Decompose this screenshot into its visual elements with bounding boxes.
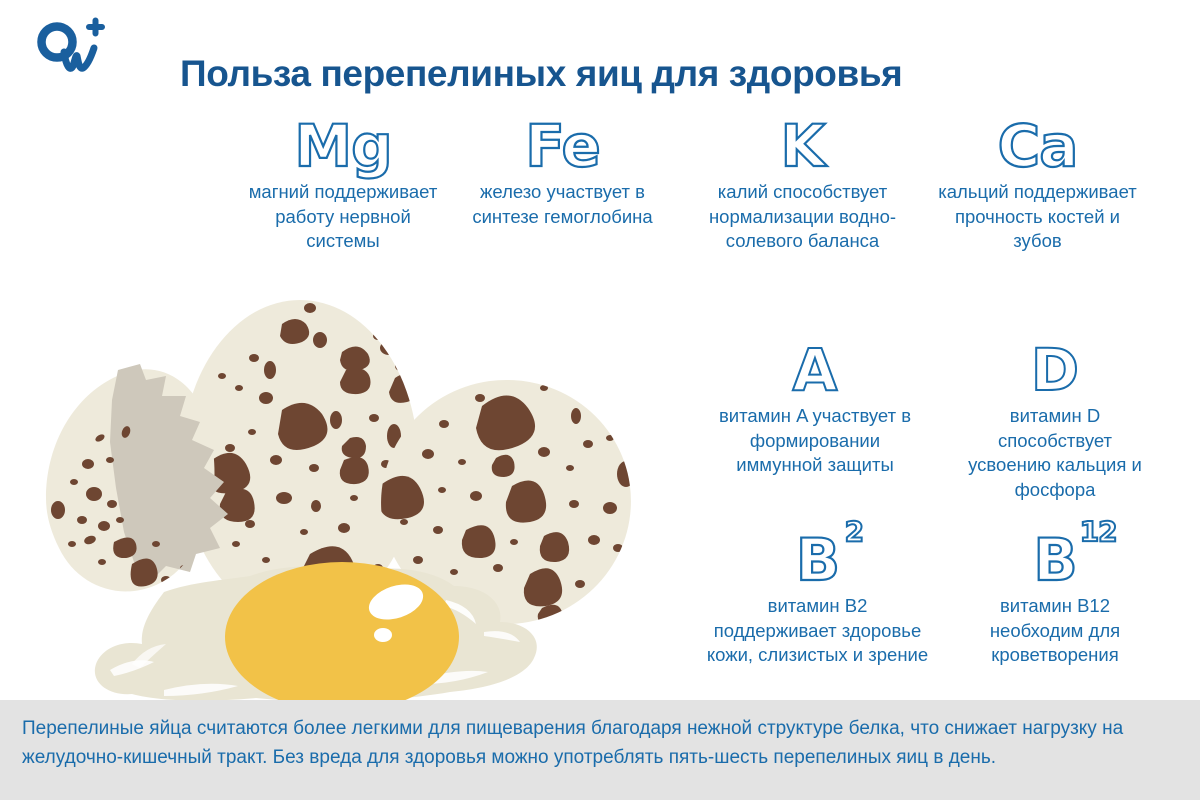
symbol-b2-wrap: B 2 [705,522,930,588]
nutrient-card-vitamin-d: D витамин D способствует усвоению кальци… [955,332,1155,502]
nutrient-card-fe: Fe железо участвует в синтезе гемоглобин… [455,108,670,229]
symbol-fe-wrap: Fe [455,108,670,174]
symbol-mg-icon: Mg [294,119,391,174]
nutrient-card-vitamin-b12: B 12 витамин B12 необходим для кроветвор… [955,522,1155,668]
infographic-root: Польза перепелиных яиц для здоровья Mg м… [0,0,1200,800]
nutrient-description-vitamin-d: витамин D способствует усвоению кальция … [955,404,1155,502]
symbol-vitamin-a-icon: A [793,343,838,398]
nutrient-card-mg: Mg магний поддерживает работу нервной си… [248,108,438,254]
symbol-vitamin-b12-icon: B 12 [1033,533,1076,588]
nutrient-description-vitamin-a: витамин A участвует в формировании иммун… [715,404,915,478]
symbol-b12-wrap: B 12 [955,522,1155,588]
nutrient-card-vitamin-b2: B 2 витамин B2 поддерживает здоровье кож… [705,522,930,668]
symbol-d-wrap: D [955,332,1155,398]
nutrient-description-ca: кальций поддерживает прочность костей и … [930,180,1145,254]
footer-note: Перепелиные яйца считаются более легкими… [22,714,1182,773]
nutrient-card-ca: Ca кальций поддерживает прочность костей… [930,108,1145,254]
nutrient-description-vitamin-b12: витамин B12 необходим для кроветворения [955,594,1155,668]
symbol-b12-superscript: 12 [1080,519,1117,546]
nutrient-description-k: калий способствует нормализации водно-со… [690,180,915,254]
symbol-k-icon: K [781,119,825,174]
footer-banner: Перепелиные яйца считаются более легкими… [0,700,1200,800]
symbol-k-wrap: K [690,108,915,174]
symbol-fe-icon: Fe [525,119,600,174]
symbol-vitamin-d-icon: D [1031,343,1079,398]
page-title: Польза перепелиных яиц для здоровья [180,53,1060,95]
nutrient-card-k: K калий способствует нормализации водно-… [690,108,915,254]
on-plus-logo [30,16,120,78]
quail-eggs-illustration [14,292,714,704]
nutrient-card-vitamin-a: A витамин A участвует в формировании имм… [715,332,915,478]
nutrient-description-mg: магний поддерживает работу нервной систе… [248,180,438,254]
nutrient-description-fe: железо участвует в синтезе гемоглобина [455,180,670,229]
symbol-b2-superscript: 2 [845,519,863,546]
symbol-mg-wrap: Mg [248,108,438,174]
symbol-ca-wrap: Ca [930,108,1145,174]
symbol-vitamin-b2-icon: B 2 [796,533,839,588]
nutrient-description-vitamin-b2: витамин B2 поддерживает здоровье кожи, с… [705,594,930,668]
symbol-a-wrap: A [715,332,915,398]
symbol-ca-icon: Ca [998,119,1078,174]
